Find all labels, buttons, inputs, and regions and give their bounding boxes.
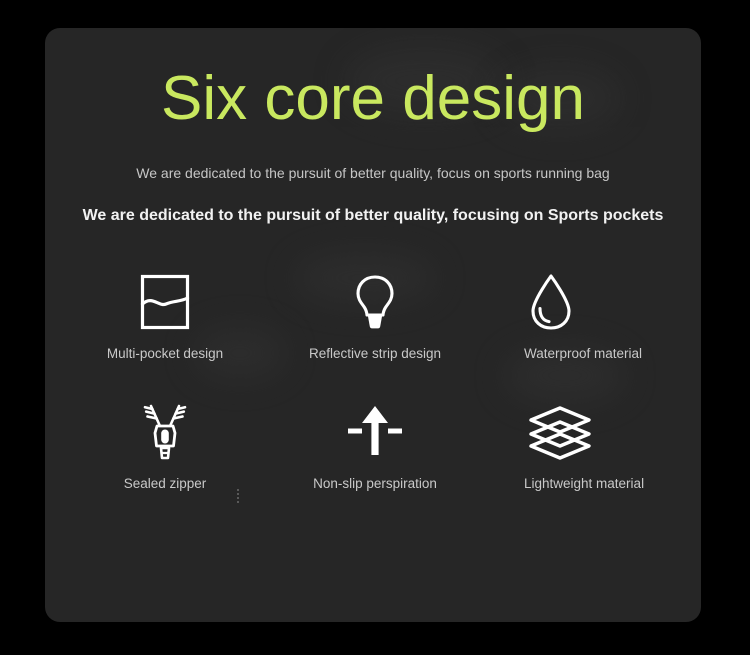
feature-label: Reflective strip design: [275, 345, 475, 362]
page-title: Six core design: [45, 64, 701, 134]
screenshot-root: Six core design We are dedicated to the …: [0, 0, 750, 655]
feature-lightweight-material[interactable]: Lightweight material: [485, 403, 685, 492]
up-arrow-icon: [345, 403, 405, 461]
feature-label: Waterproof material: [485, 345, 685, 362]
feature-label: Lightweight material: [485, 475, 685, 492]
feature-grid: Multi-pocket design Reflective strip des…: [45, 273, 701, 533]
feature-non-slip-perspiration[interactable]: Non-slip perspiration: [275, 403, 475, 492]
water-droplet-icon: [527, 273, 575, 331]
feature-label: Non-slip perspiration: [275, 475, 475, 492]
feature-label: Sealed zipper: [65, 475, 265, 492]
feature-row: Sealed zipper Non-slip perspiration: [45, 403, 701, 533]
layers-icon: [527, 403, 593, 461]
multi-pocket-icon: [139, 273, 191, 331]
zipper-icon: [137, 403, 193, 461]
feature-label: Multi-pocket design: [65, 345, 265, 362]
feature-waterproof-material[interactable]: Waterproof material: [485, 273, 685, 362]
page-subtitle: We are dedicated to the pursuit of bette…: [45, 163, 701, 183]
feature-row: Multi-pocket design Reflective strip des…: [45, 273, 701, 403]
feature-multi-pocket-design[interactable]: Multi-pocket design: [65, 273, 265, 362]
feature-sealed-zipper[interactable]: Sealed zipper: [65, 403, 265, 492]
feature-reflective-strip-design[interactable]: Reflective strip design: [275, 273, 475, 362]
zipper-label-artifact: [237, 489, 239, 503]
feature-card: Six core design We are dedicated to the …: [45, 28, 701, 622]
lightbulb-icon: [353, 273, 397, 331]
page-subtitle-bold: We are dedicated to the pursuit of bette…: [45, 205, 701, 227]
